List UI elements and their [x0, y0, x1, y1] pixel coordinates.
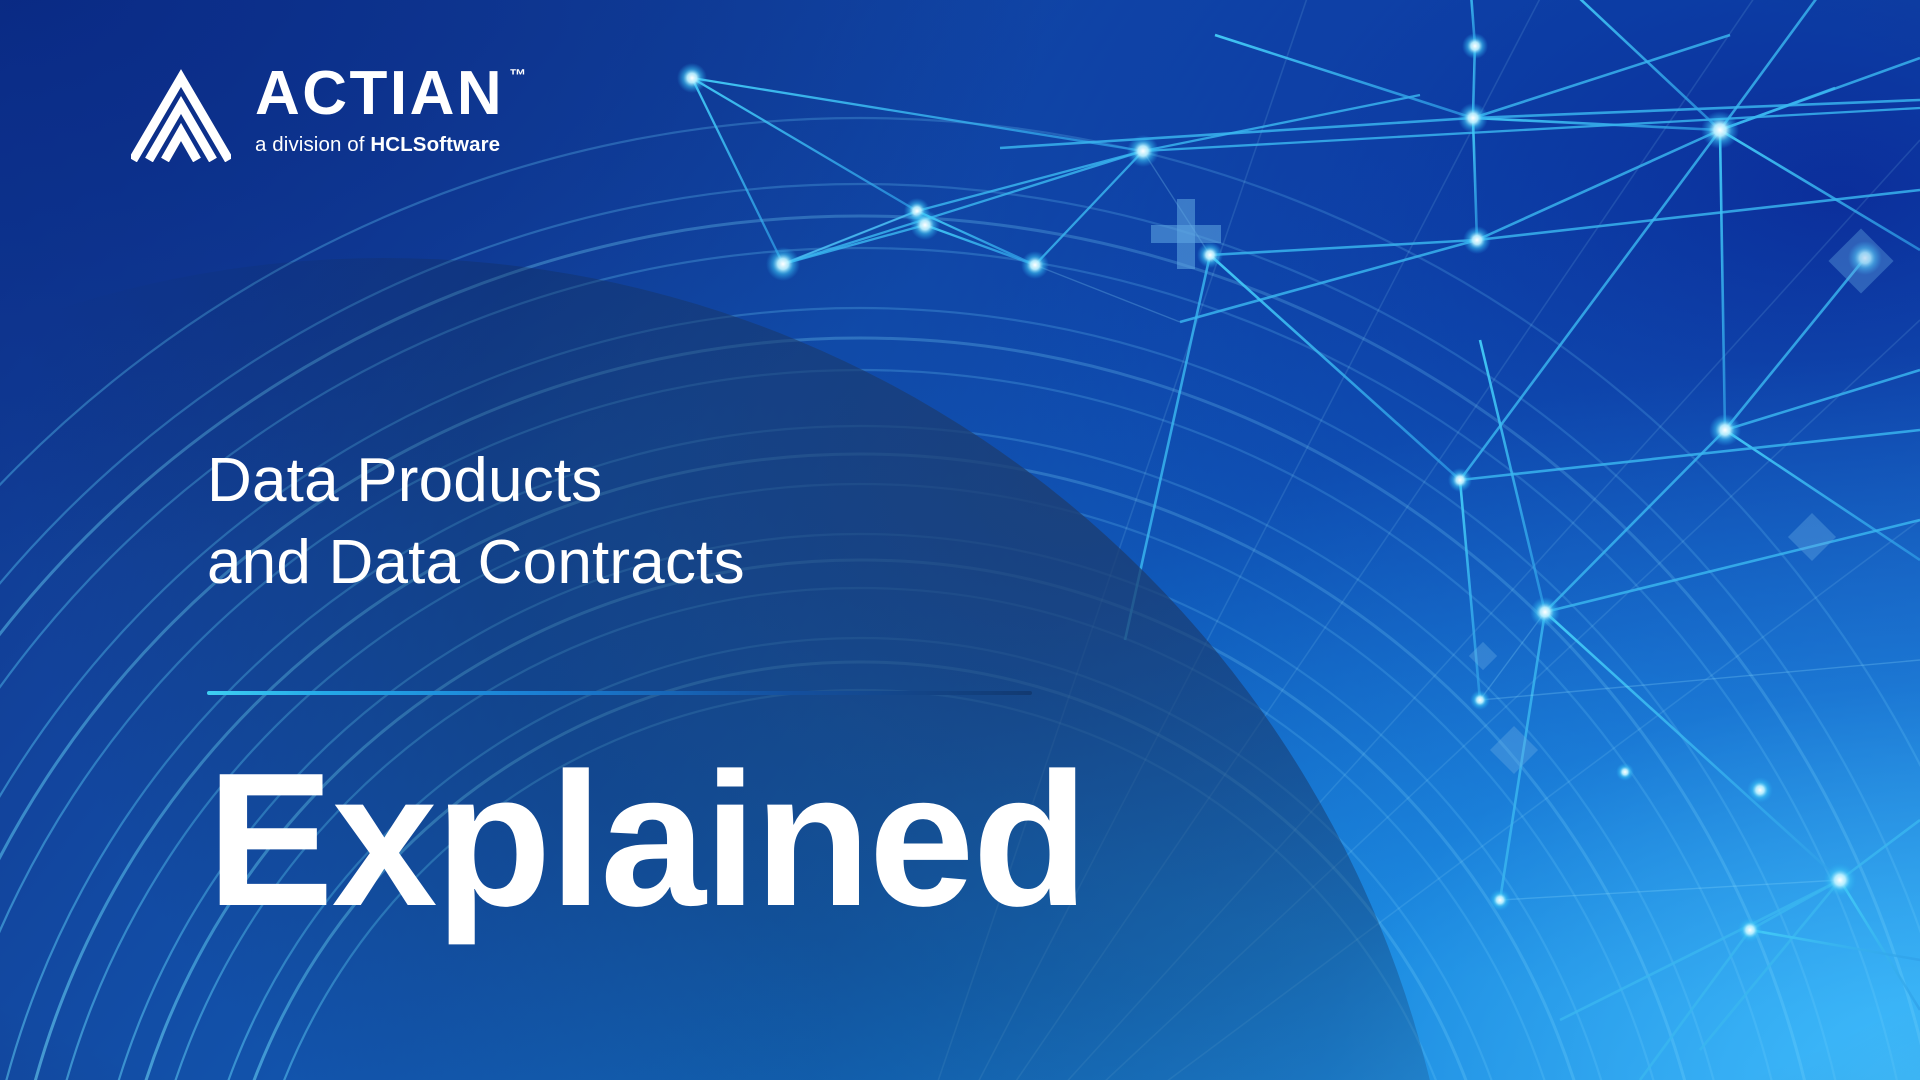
- banner-canvas: ACTIAN ™ a division of HCLSoftware Data …: [0, 0, 1920, 1080]
- actian-wordmark: ACTIAN: [255, 65, 504, 122]
- divider-line: [207, 691, 1032, 695]
- actian-chevron-mark-icon: [131, 62, 231, 162]
- logo-tagline: a division of HCLSoftware: [255, 133, 526, 157]
- plus-icon: [1151, 199, 1221, 269]
- hero-headline: Explained: [207, 745, 1087, 935]
- title-divider: [207, 691, 1032, 696]
- hero-title-line-1: Data Products: [207, 440, 745, 522]
- trademark-symbol: ™: [509, 67, 526, 84]
- tagline-brand: HCLSoftware: [370, 133, 500, 156]
- hero-title: Data Products and Data Contracts: [207, 440, 745, 605]
- tagline-prefix: a division of: [255, 133, 370, 156]
- actian-logo[interactable]: ACTIAN ™ a division of HCLSoftware: [131, 62, 526, 162]
- hero-title-line-2: and Data Contracts: [207, 522, 745, 604]
